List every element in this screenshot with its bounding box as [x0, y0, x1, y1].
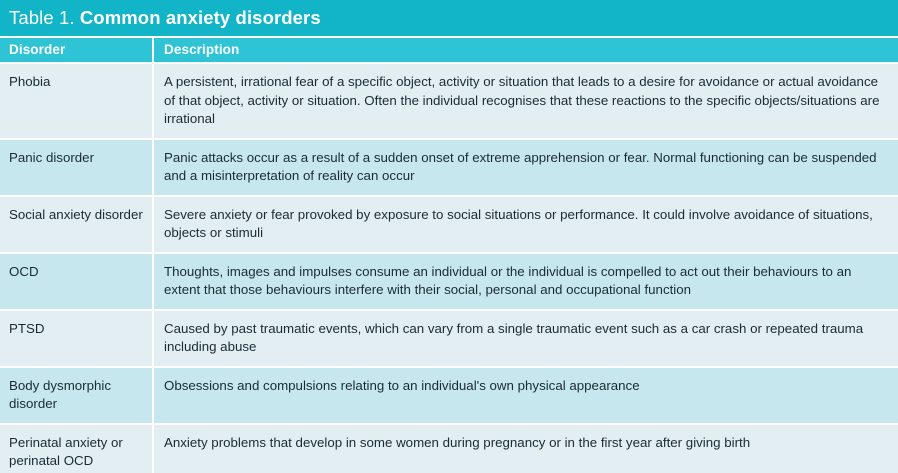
table-title-bar: Table 1. Common anxiety disorders	[0, 0, 898, 36]
row-description: Panic attacks occur as a result of a sud…	[152, 140, 898, 195]
row-description: A persistent, irrational fear of a speci…	[152, 64, 898, 138]
row-disorder-name: OCD	[0, 254, 152, 309]
row-description-text: Thoughts, images and impulses consume an…	[164, 263, 884, 300]
table-row: Phobia A persistent, irrational fear of …	[0, 62, 898, 138]
table-row: Panic disorder Panic attacks occur as a …	[0, 138, 898, 195]
row-disorder-name: PTSD	[0, 311, 152, 366]
table-row: Social anxiety disorder Severe anxiety o…	[0, 195, 898, 252]
row-description-text: Severe anxiety or fear provoked by expos…	[164, 206, 884, 243]
column-header-disorder: Disorder	[0, 42, 152, 58]
table-title-prefix: Table 1.	[9, 7, 80, 28]
row-disorder-name: Phobia	[0, 64, 152, 138]
row-description-text: A persistent, irrational fear of a speci…	[164, 73, 884, 129]
page-title: Table 1. Common anxiety disorders	[9, 8, 321, 28]
table-figure: Table 1. Common anxiety disorders Disord…	[0, 0, 898, 473]
table-row: OCD Thoughts, images and impulses consum…	[0, 252, 898, 309]
row-disorder-name: Panic disorder	[0, 140, 152, 195]
row-description: Anxiety problems that develop in some wo…	[152, 425, 898, 473]
row-description: Caused by past traumatic events, which c…	[152, 311, 898, 366]
table-column-header-row: Disorder Description	[0, 36, 898, 62]
table-row: Body dysmorphic disorder Obsessions and …	[0, 366, 898, 423]
row-description: Thoughts, images and impulses consume an…	[152, 254, 898, 309]
column-header-description: Description	[152, 38, 898, 62]
row-description-text: Obsessions and compulsions relating to a…	[164, 377, 640, 396]
table-title-main: Common anxiety disorders	[80, 7, 321, 28]
row-description: Severe anxiety or fear provoked by expos…	[152, 197, 898, 252]
row-description-text: Caused by past traumatic events, which c…	[164, 320, 884, 357]
row-disorder-name: Social anxiety disorder	[0, 197, 152, 252]
row-description-text: Panic attacks occur as a result of a sud…	[164, 149, 884, 186]
table-row: Perinatal anxiety or perinatal OCD Anxie…	[0, 423, 898, 473]
row-description-text: Anxiety problems that develop in some wo…	[164, 434, 750, 453]
table-row: PTSD Caused by past traumatic events, wh…	[0, 309, 898, 366]
row-disorder-name: Body dysmorphic disorder	[0, 368, 152, 423]
table-body: Phobia A persistent, irrational fear of …	[0, 62, 898, 473]
row-description: Obsessions and compulsions relating to a…	[152, 368, 898, 423]
row-disorder-name: Perinatal anxiety or perinatal OCD	[0, 425, 152, 473]
